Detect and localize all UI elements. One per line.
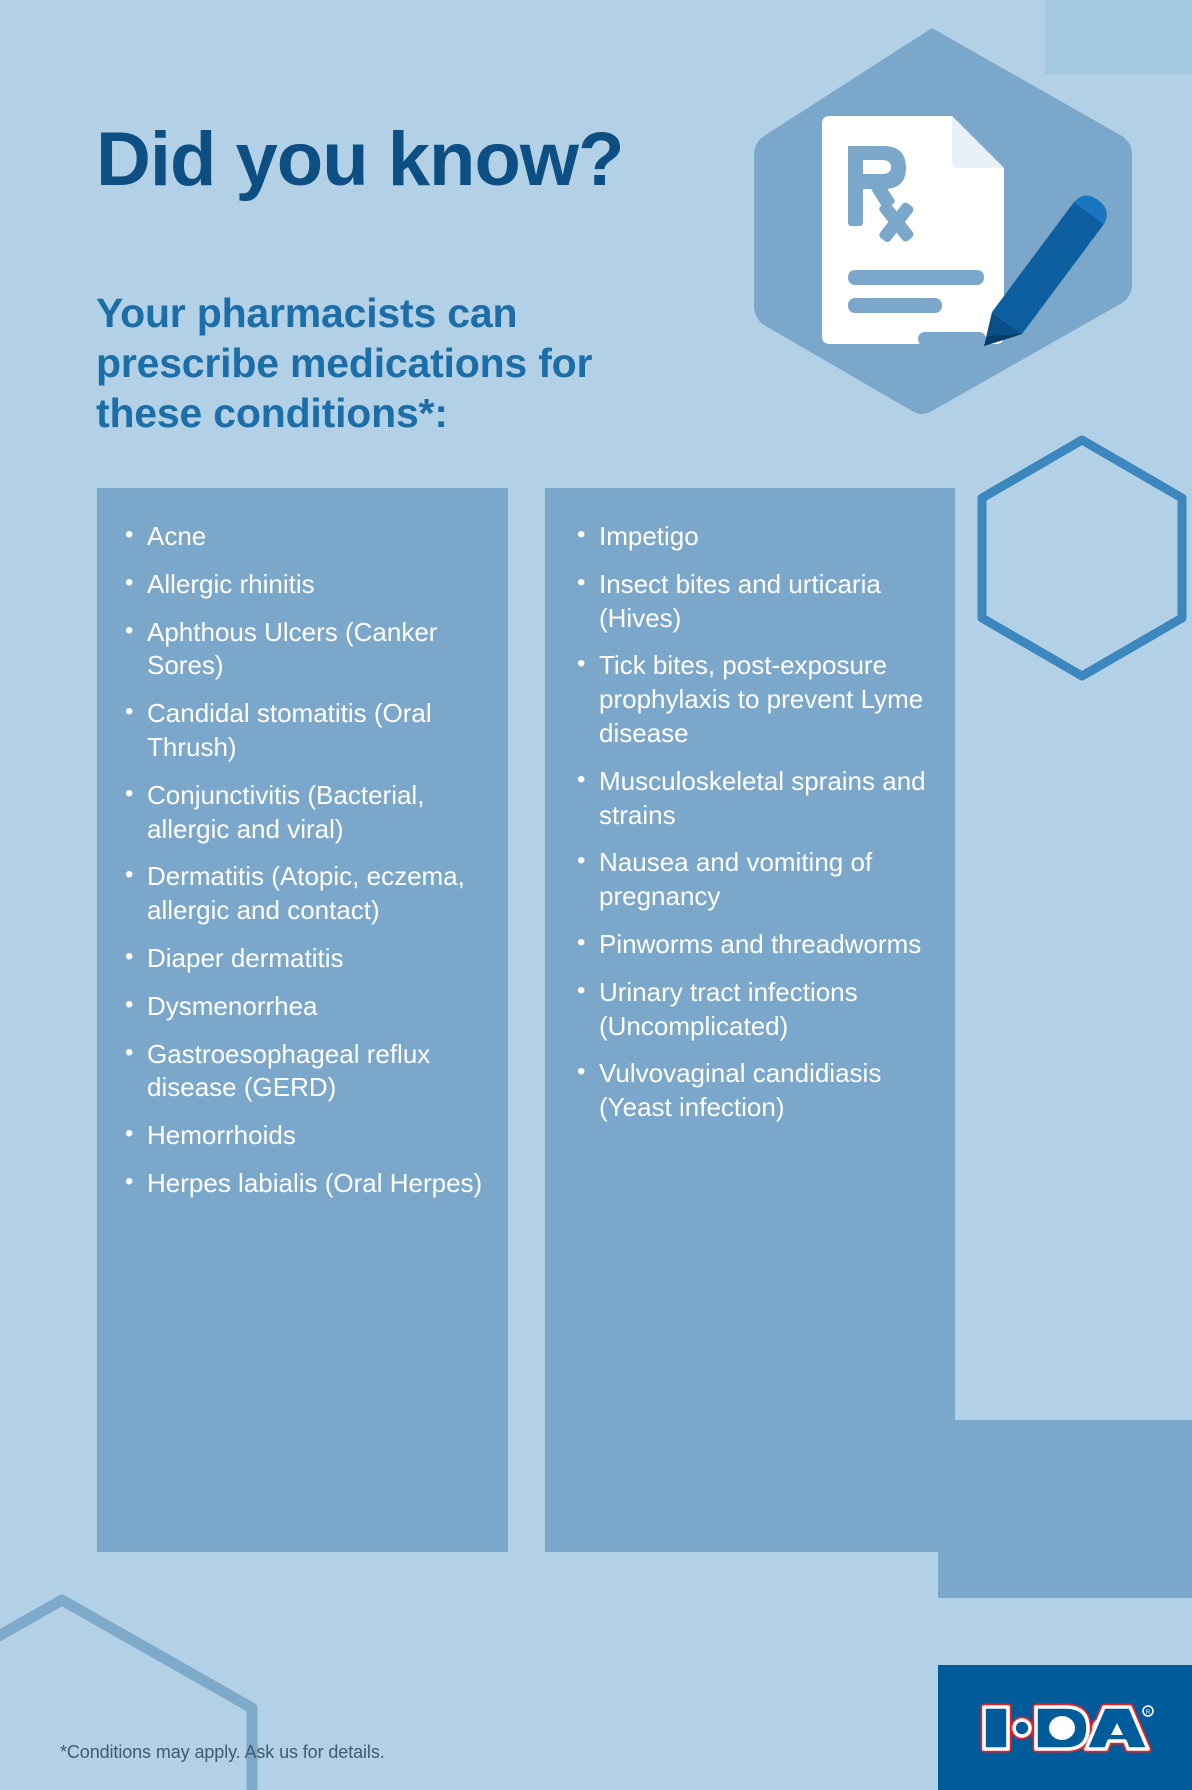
condition-list-item: Tick bites, post-exposure prophylaxis to… (573, 649, 951, 750)
signature-line-icon (918, 332, 986, 346)
prescription-icon-group (722, 24, 1192, 424)
block-decoration (938, 1420, 1192, 1598)
conditions-list-right: ImpetigoInsect bites and urticaria (Hive… (573, 520, 951, 1139)
condition-list-item: Vulvovaginal candidiasis (Yeast infectio… (573, 1057, 951, 1125)
condition-list-item: Nausea and vomiting of pregnancy (573, 846, 951, 914)
condition-list-item: Urinary tract infections (Uncomplicated) (573, 976, 951, 1044)
svg-text:R: R (1146, 1710, 1151, 1716)
conditions-list-left: AcneAllergic rhinitisAphthous Ulcers (Ca… (121, 520, 501, 1215)
poster-canvas: Did you know? Your pharmacists can presc… (0, 0, 1192, 1790)
condition-list-item: Gastroesophageal reflux disease (GERD) (121, 1038, 501, 1106)
conditions-panel-right: ImpetigoInsect bites and urticaria (Hive… (545, 488, 955, 1552)
condition-list-item: Aphthous Ulcers (Canker Sores) (121, 616, 501, 684)
condition-list-item: Herpes labialis (Oral Herpes) (121, 1167, 501, 1201)
condition-list-item: Dermatitis (Atopic, eczema, allergic and… (121, 860, 501, 928)
hexagon-outline-icon (930, 420, 1192, 720)
condition-list-item: Allergic rhinitis (121, 568, 501, 602)
condition-list-item: Acne (121, 520, 501, 554)
page-subtitle: Your pharmacists can prescribe medicatio… (96, 288, 616, 438)
condition-list-item: Impetigo (573, 520, 951, 554)
condition-list-item: Candidal stomatitis (Oral Thrush) (121, 697, 501, 765)
condition-list-item: Conjunctivitis (Bacterial, allergic and … (121, 779, 501, 847)
page-title: Did you know? (96, 122, 623, 198)
document-line-icon (848, 270, 984, 285)
conditions-panel-left: AcneAllergic rhinitisAphthous Ulcers (Ca… (97, 488, 508, 1552)
condition-list-item: Musculoskeletal sprains and strains (573, 765, 951, 833)
footnote-text: *Conditions may apply. Ask us for detail… (60, 1742, 385, 1763)
condition-list-item: Insect bites and urticaria (Hives) (573, 568, 951, 636)
ida-logo-icon: R (978, 1699, 1154, 1757)
condition-list-item: Hemorrhoids (121, 1119, 501, 1153)
condition-list-item: Pinworms and threadworms (573, 928, 951, 962)
condition-list-item: Dysmenorrhea (121, 990, 501, 1024)
condition-list-item: Diaper dermatitis (121, 942, 501, 976)
document-line-icon (848, 298, 942, 313)
ida-logo: R (938, 1665, 1192, 1790)
